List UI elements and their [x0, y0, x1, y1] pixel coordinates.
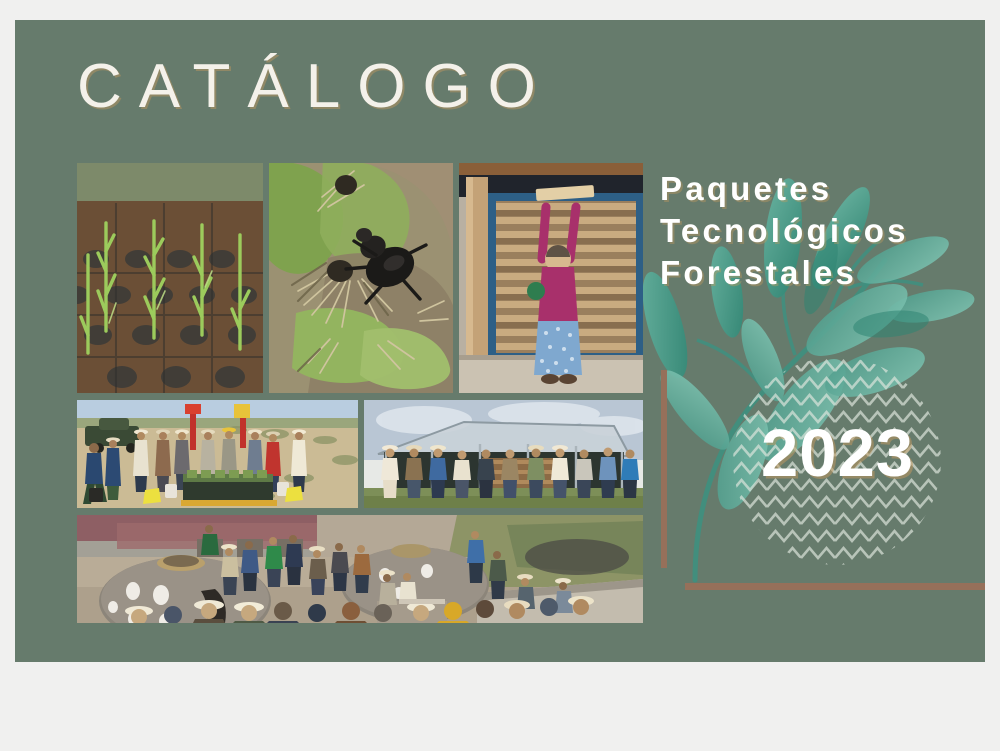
subtitle-line-3: Forestales [660, 252, 985, 294]
horizontal-accent-rule [685, 583, 985, 590]
collage-row-2 [77, 400, 643, 508]
photo-collage [77, 163, 643, 623]
photo-group-in-front-of-shade-house [364, 400, 643, 508]
page-title: CATÁLOGO [77, 56, 553, 118]
cover-page: CATÁLOGO Paquetes Tecnológicos Forestale… [0, 0, 1000, 751]
photo-group-around-charcoal-kilns [77, 515, 643, 623]
photo-woman-stacking-lumber [459, 163, 643, 393]
vertical-accent-rule [661, 370, 667, 568]
photo-workers-with-seedling-trays-in-field [77, 400, 358, 508]
subtitle-line-1: Paquetes [660, 168, 985, 210]
footer-bar: Medio Ambiente SECRETARÍA DE MEDIO AMBIE… [0, 662, 1000, 751]
subtitle-block: Paquetes Tecnológicos Forestales [660, 168, 985, 295]
photo-beetle-on-cactus [269, 163, 453, 393]
photo-pine-seedlings-in-nursery-trays [77, 163, 263, 393]
subtitle-line-2: Tecnológicos [660, 210, 985, 252]
collage-row-3 [77, 515, 643, 623]
collage-row-1 [77, 163, 643, 393]
cover-panel: CATÁLOGO Paquetes Tecnológicos Forestale… [15, 20, 985, 662]
year-label: 2023 [761, 420, 914, 487]
